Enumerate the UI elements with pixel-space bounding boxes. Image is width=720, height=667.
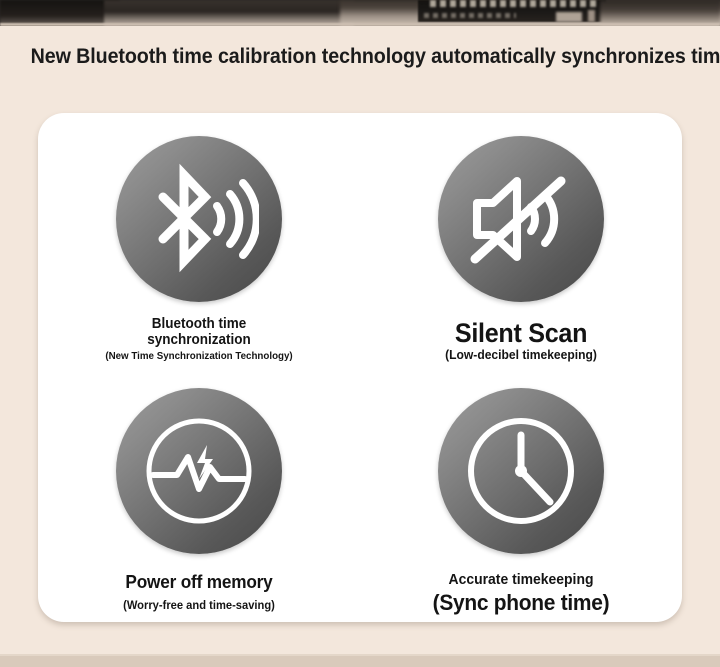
feature-subtitle: (Low-decibel timekeeping) [371, 347, 670, 363]
feature-item-silent-scan[interactable]: Silent Scan (Low-decibel timekeeping) [360, 113, 682, 368]
feature-title: Power off memory [49, 572, 348, 593]
blurred-bookshelf-photo [0, 0, 720, 26]
feature-caption: Bluetooth time synchronization (New Time… [38, 316, 360, 363]
feature-title: Accurate timekeeping [371, 572, 670, 589]
feature-grid: Bluetooth time synchronization (New Time… [38, 113, 682, 622]
feature-subtitle: (New Time Synchronization Technology) [49, 350, 348, 363]
photo-object-two [588, 10, 595, 22]
page-bottom-edge [0, 656, 720, 667]
page-title: New Bluetooth time calibration technolog… [31, 44, 690, 69]
photo-object-one [556, 12, 582, 22]
feature-caption: Power off memory (Worry-free and time-sa… [38, 572, 360, 613]
photo-book-subtitle-blur [424, 13, 516, 18]
feature-caption: Silent Scan (Low-decibel timekeeping) [360, 318, 682, 363]
photo-bottom-edge [0, 23, 720, 26]
bluetooth-signal-icon [116, 136, 282, 302]
mute-speaker-icon [438, 136, 604, 302]
feature-title-line-1: Bluetooth time [49, 316, 348, 332]
feature-title: Silent Scan [371, 318, 670, 348]
feature-caption: Accurate timekeeping (Sync phone time) [360, 572, 682, 617]
feature-card: Bluetooth time synchronization (New Time… [38, 113, 682, 622]
clock-icon [438, 388, 604, 554]
feature-item-power-off-memory[interactable]: Power off memory (Worry-free and time-sa… [38, 368, 360, 623]
feature-item-bluetooth-sync[interactable]: Bluetooth time synchronization (New Time… [38, 113, 360, 368]
feature-title-line-2: synchronization [49, 332, 348, 348]
feature-item-accurate-timekeeping[interactable]: Accurate timekeeping (Sync phone time) [360, 368, 682, 623]
feature-subtitle: (Sync phone time) [371, 589, 670, 616]
pulse-bolt-icon [116, 388, 282, 554]
feature-subtitle: (Worry-free and time-saving) [49, 598, 348, 612]
photo-book-title-blur [430, 0, 598, 7]
